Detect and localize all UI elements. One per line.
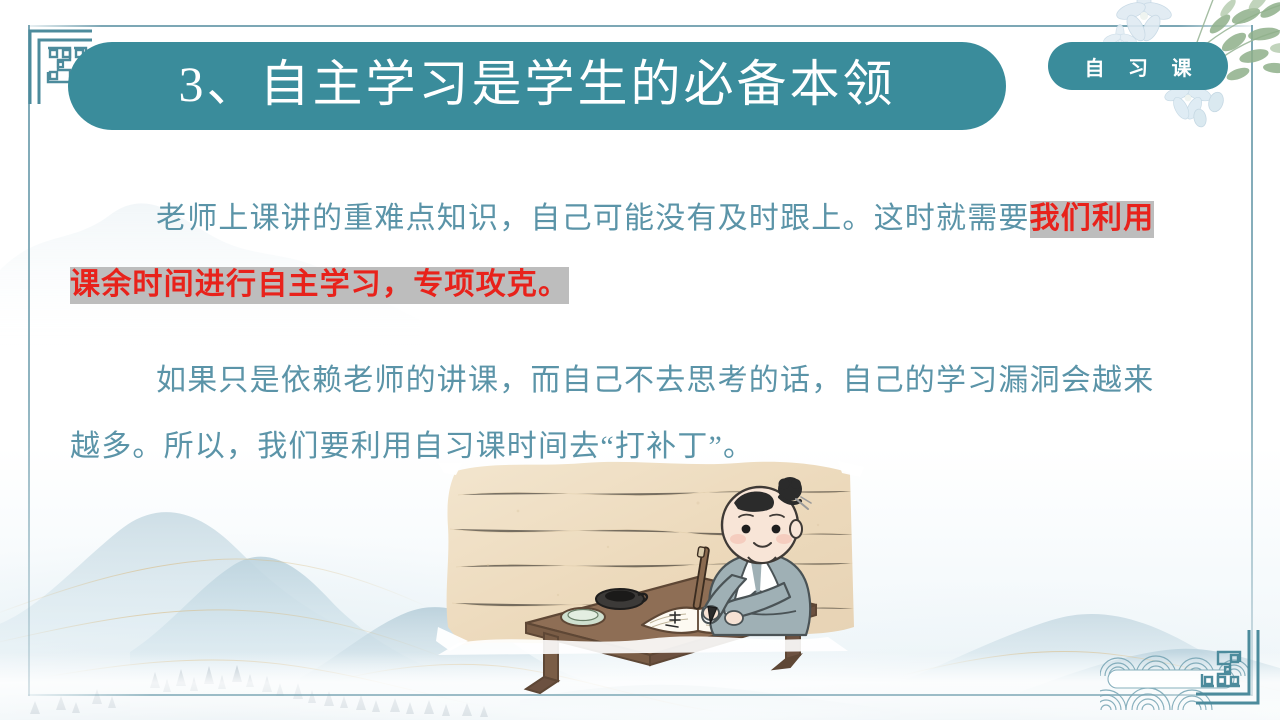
- body-content: 老师上课讲的重难点知识，自己可能没有及时跟上。这时就需要我们利用课余时间进行自主…: [70, 186, 1180, 480]
- paragraph-1: 老师上课讲的重难点知识，自己可能没有及时跟上。这时就需要我们利用课余时间进行自主…: [70, 186, 1180, 318]
- meander-corner-bottom-right-icon: [1190, 624, 1274, 708]
- paragraph-2-plain: 如果只是依赖老师的讲课，而自己不去思考的话，自己的学习漏洞会越来越多。所以，我们…: [70, 364, 1154, 463]
- frame-line-left: [28, 25, 30, 696]
- slide-title-pill: 3、自主学习是学生的必备本领: [68, 42, 1006, 130]
- paragraph-1-plain: 老师上课讲的重难点知识，自己可能没有及时跟上。这时就需要: [156, 202, 1030, 235]
- illustration-student-writing: [398, 455, 868, 710]
- paragraph-2: 如果只是依赖老师的讲课，而自己不去思考的话，自己的学习漏洞会越来越多。所以，我们…: [70, 348, 1180, 480]
- lesson-type-badge: 自 习 课: [1048, 42, 1228, 90]
- page-title: 3、自主学习是学生的必备本领: [179, 59, 896, 113]
- badge-label: 自 习 课: [1075, 52, 1200, 81]
- slide-root: 3、自主学习是学生的必备本领 自 习 课 老师上课讲的重难点知识，自己可能没有及…: [0, 0, 1280, 720]
- frame-line-top: [28, 25, 1252, 27]
